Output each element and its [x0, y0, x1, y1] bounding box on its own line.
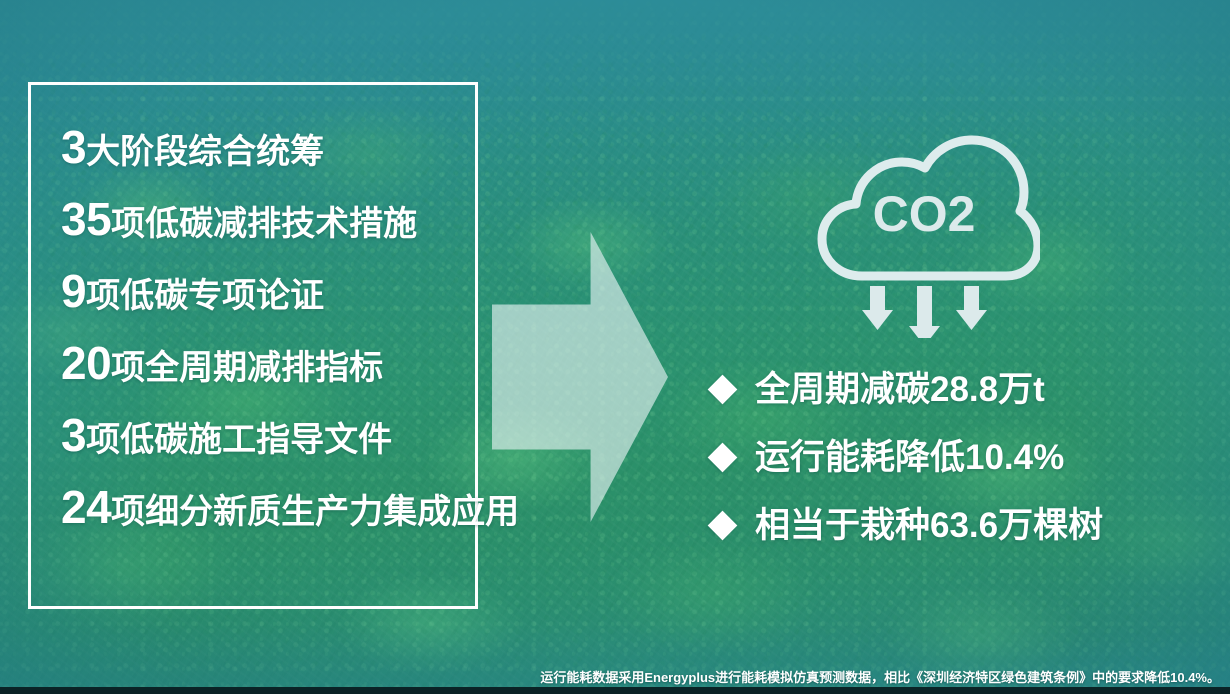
- stat-label: 项低碳施工指导文件: [86, 423, 392, 457]
- stat-number: 35: [61, 196, 111, 242]
- diamond-bullet-icon: [708, 510, 738, 540]
- stat-label: 项细分新质生产力集成应用: [111, 495, 519, 529]
- result-item: 相当于栽种63.6万棵树: [712, 491, 1182, 559]
- stat-item: 3 大阶段综合统筹: [61, 124, 467, 196]
- result-text: 全周期减碳28.8万t: [755, 372, 1045, 407]
- stat-item: 24 项细分新质生产力集成应用: [61, 484, 467, 556]
- result-item: 运行能耗降低10.4%: [712, 423, 1182, 491]
- emission-arrow-right: [956, 286, 987, 330]
- diamond-bullet-icon: [708, 374, 738, 404]
- stat-number: 3: [61, 124, 86, 170]
- co2-cloud-icon: CO2: [800, 128, 1040, 338]
- result-item: 全周期减碳28.8万t: [712, 355, 1182, 423]
- diamond-bullet-icon: [708, 442, 738, 472]
- co2-label: CO2: [873, 186, 976, 242]
- stat-item: 35 项低碳减排技术措施: [61, 196, 467, 268]
- stat-number: 24: [61, 484, 111, 530]
- stats-panel: 3 大阶段综合统筹 35 项低碳减排技术措施 9 项低碳专项论证 20 项全周期…: [28, 82, 478, 609]
- stat-label: 项全周期减排指标: [111, 351, 383, 385]
- stat-item: 9 项低碳专项论证: [61, 268, 467, 340]
- result-text: 运行能耗降低10.4%: [755, 440, 1064, 475]
- stat-item: 20 项全周期减排指标: [61, 340, 467, 412]
- stat-number: 3: [61, 412, 86, 458]
- stat-label: 项低碳减排技术措施: [111, 207, 417, 241]
- result-text: 相当于栽种63.6万棵树: [755, 508, 1103, 543]
- stats-list: 3 大阶段综合统筹 35 项低碳减排技术措施 9 项低碳专项论证 20 项全周期…: [61, 124, 467, 556]
- results-list: 全周期减碳28.8万t 运行能耗降低10.4% 相当于栽种63.6万棵树: [712, 355, 1182, 559]
- stat-label: 项低碳专项论证: [86, 279, 324, 313]
- stat-number: 20: [61, 340, 111, 386]
- stat-item: 3 项低碳施工指导文件: [61, 412, 467, 484]
- footnote: 运行能耗数据采用Energyplus进行能耗模拟仿真预测数据，相比《深圳经济特区…: [540, 667, 1220, 686]
- emission-arrow-left: [862, 286, 893, 330]
- bottom-strip: [0, 687, 1230, 694]
- slide-root: 3 大阶段综合统筹 35 项低碳减排技术措施 9 项低碳专项论证 20 项全周期…: [0, 0, 1230, 694]
- stat-number: 9: [61, 268, 86, 314]
- emission-arrow-center: [909, 286, 940, 338]
- stat-label: 大阶段综合统筹: [86, 135, 324, 169]
